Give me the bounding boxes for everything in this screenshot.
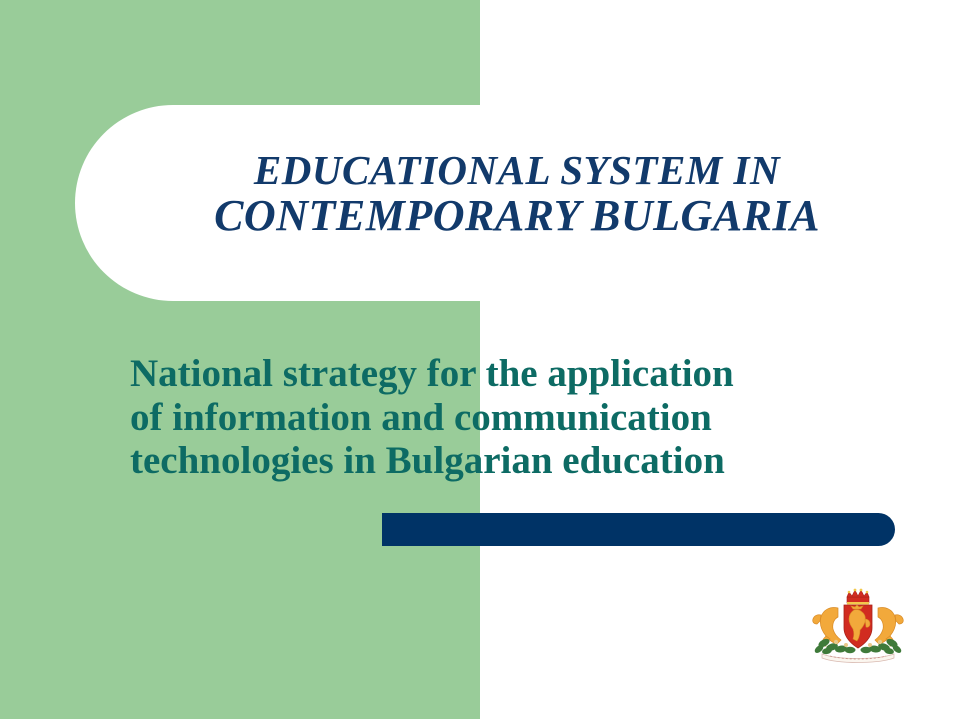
- subtitle-line-2: of information and communication: [130, 396, 900, 440]
- accent-bar: [382, 513, 895, 546]
- title-line-2: CONTEMPORARY BULGARIA: [75, 192, 959, 240]
- slide-subtitle: National strategy for the application of…: [130, 352, 900, 483]
- bulgaria-coat-of-arms-icon: [808, 588, 908, 664]
- subtitle-line-1: National strategy for the application: [130, 352, 900, 396]
- subtitle-line-3: technologies in Bulgarian education: [130, 439, 900, 483]
- title-line-1: EDUCATIONAL SYSTEM IN: [75, 148, 959, 192]
- presentation-slide: EDUCATIONAL SYSTEM IN CONTEMPORARY BULGA…: [0, 0, 959, 719]
- slide-title: EDUCATIONAL SYSTEM IN CONTEMPORARY BULGA…: [75, 148, 959, 240]
